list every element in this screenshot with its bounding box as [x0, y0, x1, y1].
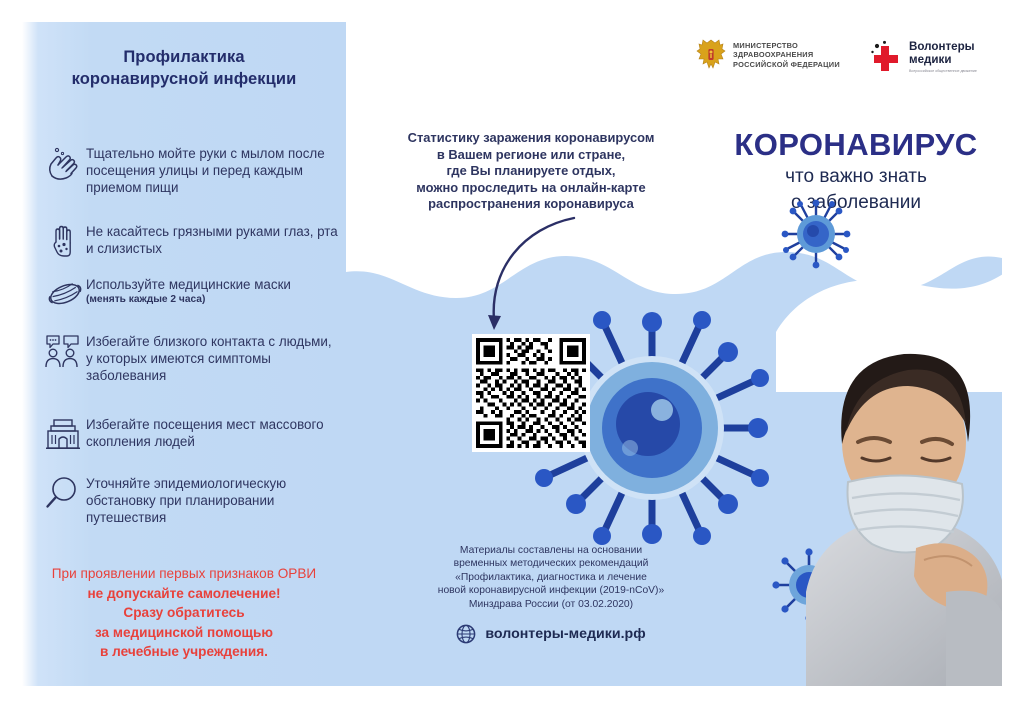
medical-mask-icon: [44, 273, 86, 315]
dirty-hand-icon: [44, 220, 86, 262]
volunteers-line-2: медики: [909, 53, 977, 66]
ministry-logo-text: МИНИСТЕРСТВО ЗДРАВООХРАНЕНИЯ РОССИЙСКОЙ …: [733, 41, 840, 69]
poster-title-block: КОРОНАВИРУС что важно знать о заболевани…: [716, 128, 996, 214]
page-subtitle-line2: о заболевании: [716, 191, 996, 214]
coronavirus-particle-small: [776, 194, 856, 274]
source-line-1: Материалы составлены на основании: [386, 544, 716, 557]
page-title: КОРОНАВИРУС: [716, 128, 996, 162]
hand-washing-icon: [44, 142, 86, 184]
stat-line-2: в Вашем регионе или стране,: [376, 147, 686, 164]
ministry-line-2: ЗДРАВООХРАНЕНИЯ: [733, 50, 840, 59]
warning-line-1: При проявлении первых признаков ОРВИ: [34, 564, 334, 584]
source-line-4: новой коронавирусной инфекции (2019-nCoV…: [386, 584, 716, 597]
ministry-line-3: РОССИЙСКОЙ ФЕДЕРАЦИИ: [733, 60, 840, 69]
volunteers-subtitle: Всероссийское общественное движение: [909, 69, 977, 74]
website-url-text[interactable]: волонтеры-медики.рф: [485, 626, 645, 642]
people-talking-icon: [44, 330, 86, 372]
volunteers-line-1: Волонтеры: [909, 40, 977, 53]
qr-code-image[interactable]: [476, 338, 586, 448]
statistics-text: Статистику заражения коронавирусом в Ваш…: [376, 130, 686, 213]
prevention-item-wash-hands: Тщательно мойте руки с мылом после посещ…: [44, 144, 340, 196]
self-medication-warning: При проявлении первых признаков ОРВИ не …: [34, 564, 334, 662]
ministry-line-1: МИНИСТЕРСТВО: [733, 41, 840, 50]
prevention-panel-title: Профилактика коронавирусной инфекции: [22, 46, 346, 90]
prevention-item-text: Тщательно мойте руки с мылом после посещ…: [86, 144, 340, 196]
stat-line-3: где Вы планируете отдых,: [376, 163, 686, 180]
stat-line-4: можно проследить на онлайн-карте: [376, 180, 686, 197]
header-logos: МИНИСТЕРСТВО ЗДРАВООХРАНЕНИЯ РОССИЙСКОЙ …: [696, 36, 996, 88]
prevention-title-line1: Профилактика: [22, 46, 346, 68]
prevention-item-avoid-crowds: Избегайте посещения мест массового скопл…: [44, 415, 340, 455]
warning-line-3: Сразу обратитесь: [34, 603, 334, 623]
source-line-5: Минздрава России (от 03.02.2020): [386, 598, 716, 611]
prevention-item-text: Используйте медицинские маски: [86, 275, 291, 293]
prevention-item-subtext: (менять каждые 2 часа): [86, 293, 291, 306]
prevention-item-avoid-contact: Избегайте близкого контакта с людьми, у …: [44, 332, 340, 384]
warning-line-5: в лечебные учреждения.: [34, 642, 334, 662]
page-subtitle-line1: что важно знать: [716, 165, 996, 188]
source-line-2: временных методических рекомендаций: [386, 557, 716, 570]
globe-icon: [456, 624, 476, 644]
main-panel: МИНИСТЕРСТВО ЗДРАВООХРАНЕНИЯ РОССИЙСКОЙ …: [346, 22, 1002, 686]
prevention-item-masks: Используйте медицинские маски (менять ка…: [44, 275, 340, 315]
website-link[interactable]: волонтеры-медики.рф: [386, 624, 716, 644]
red-cross-icon: [868, 40, 902, 72]
warning-line-2: не допускайте самолечение!: [34, 584, 334, 604]
stat-line-1: Статистику заражения коронавирусом: [376, 130, 686, 147]
stat-line-5: распространения коронавируса: [376, 196, 686, 213]
poster-canvas: Профилактика коронавирусной инфекции Тща…: [22, 22, 1002, 686]
qr-code[interactable]: [472, 334, 590, 452]
ministry-logo: МИНИСТЕРСТВО ЗДРАВООХРАНЕНИЯ РОССИЙСКОЙ …: [696, 38, 840, 72]
prevention-item-text: Не касайтесь грязными руками глаз, рта и…: [86, 222, 340, 257]
prevention-panel: Профилактика коронавирусной инфекции Тща…: [22, 22, 346, 686]
source-line-3: «Профилактика, диагностика и лечение: [386, 571, 716, 584]
volunteers-logo: Волонтеры медики Всероссийское обществен…: [868, 40, 977, 74]
prevention-item-text: Избегайте близкого контакта с людьми, у …: [86, 332, 340, 384]
crowded-building-icon: [44, 413, 86, 455]
russian-coat-of-arms-icon: [696, 38, 726, 72]
source-note: Материалы составлены на основании времен…: [386, 544, 716, 611]
prevention-item-text: Избегайте посещения мест массового скопл…: [86, 415, 340, 450]
prevention-title-line2: коронавирусной инфекции: [22, 68, 346, 90]
prevention-item-check-epidemiology: Уточняйте эпидемиологическую обстановку …: [44, 474, 340, 526]
warning-line-4: за медицинской помощью: [34, 623, 334, 643]
prevention-item-text: Уточняйте эпидемиологическую обстановку …: [86, 474, 340, 526]
magnifier-icon: [44, 472, 86, 514]
coughing-person-with-mask-photo: [796, 292, 1002, 686]
prevention-item-dirty-hands: Не касайтесь грязными руками глаз, рта и…: [44, 222, 340, 262]
